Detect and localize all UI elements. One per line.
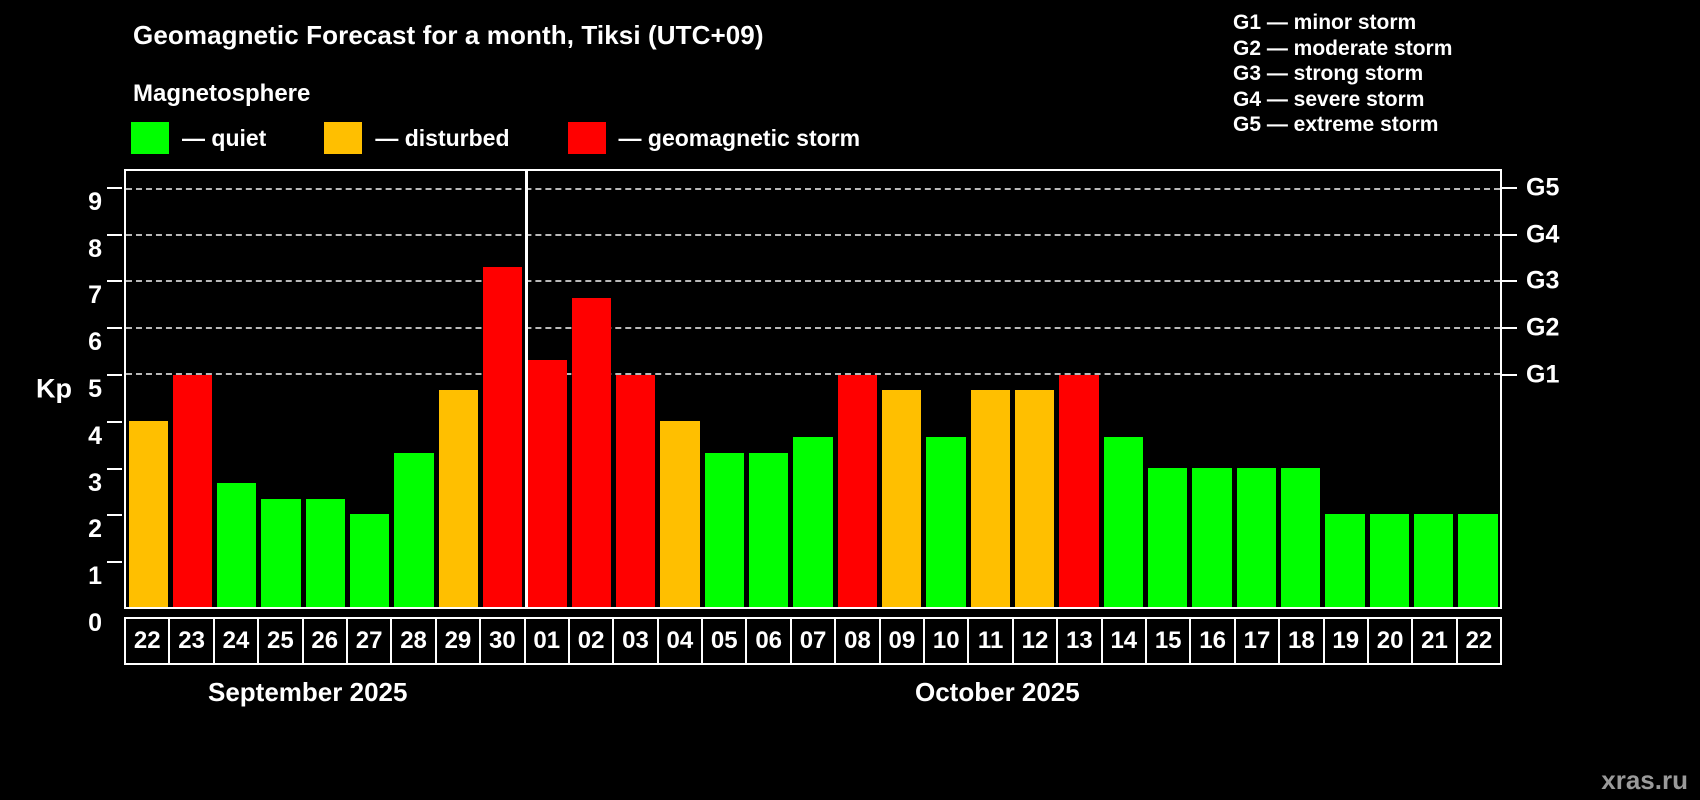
bar-cell[interactable] bbox=[614, 171, 658, 607]
day-label-10[interactable]: 10 bbox=[925, 619, 969, 663]
bar-cell[interactable] bbox=[1367, 171, 1411, 607]
bar-cell[interactable] bbox=[525, 171, 569, 607]
bar-28[interactable] bbox=[394, 453, 433, 607]
day-label-02[interactable]: 02 bbox=[570, 619, 614, 663]
legend-item-disturbed: — disturbed bbox=[324, 122, 509, 154]
bar-11[interactable] bbox=[971, 390, 1010, 607]
g-scale-axis: G1G2G3G4G5 bbox=[1502, 169, 1700, 609]
bar-cell[interactable] bbox=[1057, 171, 1101, 607]
bar-cell[interactable] bbox=[1101, 171, 1145, 607]
legend-item-quiet: — quiet bbox=[131, 122, 266, 154]
bar-15[interactable] bbox=[1148, 468, 1187, 607]
bar-cell[interactable] bbox=[1234, 171, 1278, 607]
g-scale-legend: G1 — minor stormG2 — moderate stormG3 — … bbox=[1233, 10, 1452, 138]
day-label-28[interactable]: 28 bbox=[392, 619, 436, 663]
legend-swatch-disturbed bbox=[324, 122, 362, 154]
day-label-12[interactable]: 12 bbox=[1014, 619, 1058, 663]
day-label-11[interactable]: 11 bbox=[969, 619, 1013, 663]
bar-29[interactable] bbox=[439, 390, 478, 607]
bar-21[interactable] bbox=[1414, 514, 1453, 607]
day-label-27[interactable]: 27 bbox=[348, 619, 392, 663]
bar-cell[interactable] bbox=[747, 171, 791, 607]
bar-19[interactable] bbox=[1325, 514, 1364, 607]
y-tick-mark-9 bbox=[107, 187, 122, 189]
bar-10[interactable] bbox=[926, 437, 965, 607]
bar-01[interactable] bbox=[527, 360, 566, 607]
bar-05[interactable] bbox=[705, 453, 744, 607]
bar-02[interactable] bbox=[572, 298, 611, 607]
g-scale-line-2: G2 — moderate storm bbox=[1233, 36, 1452, 62]
bar-06[interactable] bbox=[749, 453, 788, 607]
bar-04[interactable] bbox=[660, 421, 699, 607]
bar-cell[interactable] bbox=[1279, 171, 1323, 607]
day-label-15[interactable]: 15 bbox=[1147, 619, 1191, 663]
g-tick-mark-G4 bbox=[1502, 234, 1517, 236]
bar-25[interactable] bbox=[261, 499, 300, 607]
bar-cell[interactable] bbox=[1412, 171, 1456, 607]
legend-swatch-storm bbox=[568, 122, 606, 154]
bar-03[interactable] bbox=[616, 375, 655, 607]
g-tick-label-G2: G2 bbox=[1526, 314, 1559, 343]
bar-08[interactable] bbox=[838, 375, 877, 607]
bar-13[interactable] bbox=[1059, 375, 1098, 607]
bar-24[interactable] bbox=[217, 483, 256, 607]
month-divider bbox=[525, 169, 528, 609]
bar-cell[interactable] bbox=[924, 171, 968, 607]
bar-22[interactable] bbox=[129, 421, 168, 607]
g-tick-mark-G1 bbox=[1502, 374, 1517, 376]
bar-09[interactable] bbox=[882, 390, 921, 607]
bar-07[interactable] bbox=[793, 437, 832, 607]
bar-cell[interactable] bbox=[303, 171, 347, 607]
day-label-20[interactable]: 20 bbox=[1369, 619, 1413, 663]
bar-27[interactable] bbox=[350, 514, 389, 607]
bar-cell[interactable] bbox=[170, 171, 214, 607]
bar-cell[interactable] bbox=[569, 171, 613, 607]
bar-cell[interactable] bbox=[126, 171, 170, 607]
bar-30[interactable] bbox=[483, 267, 522, 607]
g-scale-line-1: G1 — minor storm bbox=[1233, 10, 1452, 36]
day-label-07[interactable]: 07 bbox=[792, 619, 836, 663]
day-label-25[interactable]: 25 bbox=[259, 619, 303, 663]
bar-cell[interactable] bbox=[215, 171, 259, 607]
day-label-06[interactable]: 06 bbox=[747, 619, 791, 663]
g-tick-mark-G2 bbox=[1502, 327, 1517, 329]
g-scale-line-5: G5 — extreme storm bbox=[1233, 112, 1452, 138]
page-title: Geomagnetic Forecast for a month, Tiksi … bbox=[133, 20, 764, 51]
day-label-22[interactable]: 22 bbox=[126, 619, 170, 663]
y-axis: Kp 0123456789 bbox=[0, 169, 124, 609]
bar-cell[interactable] bbox=[259, 171, 303, 607]
day-label-16[interactable]: 16 bbox=[1191, 619, 1235, 663]
watermark: xras.ru bbox=[1601, 765, 1688, 796]
bar-22[interactable] bbox=[1458, 514, 1497, 607]
bar-cell[interactable] bbox=[1190, 171, 1234, 607]
bar-cell[interactable] bbox=[481, 171, 525, 607]
day-label-18[interactable]: 18 bbox=[1280, 619, 1324, 663]
bar-14[interactable] bbox=[1104, 437, 1143, 607]
day-label-14[interactable]: 14 bbox=[1103, 619, 1147, 663]
bar-23[interactable] bbox=[173, 375, 212, 607]
magnetosphere-label: Magnetosphere bbox=[133, 80, 310, 108]
legend-label-disturbed: — disturbed bbox=[375, 125, 509, 152]
bar-cell[interactable] bbox=[1323, 171, 1367, 607]
bar-16[interactable] bbox=[1192, 468, 1231, 607]
day-label-04[interactable]: 04 bbox=[659, 619, 703, 663]
day-label-05[interactable]: 05 bbox=[703, 619, 747, 663]
bar-cell[interactable] bbox=[348, 171, 392, 607]
day-label-29[interactable]: 29 bbox=[437, 619, 481, 663]
g-tick-label-G1: G1 bbox=[1526, 360, 1559, 389]
y-tick-mark-3 bbox=[107, 468, 122, 470]
g-tick-label-G4: G4 bbox=[1526, 220, 1559, 249]
g-tick-mark-G5 bbox=[1502, 187, 1517, 189]
magnetosphere-legend: — quiet— disturbed— geomagnetic storm bbox=[131, 122, 860, 154]
y-tick-mark-1 bbox=[107, 561, 122, 563]
legend-swatch-quiet bbox=[131, 122, 169, 154]
y-tick-mark-7 bbox=[107, 280, 122, 282]
bar-cell[interactable] bbox=[791, 171, 835, 607]
bar-series bbox=[126, 171, 1500, 607]
legend-item-storm: — geomagnetic storm bbox=[568, 122, 861, 154]
y-tick-mark-2 bbox=[107, 514, 122, 516]
y-tick-mark-4 bbox=[107, 421, 122, 423]
bar-cell[interactable] bbox=[1146, 171, 1190, 607]
legend-label-quiet: — quiet bbox=[182, 125, 266, 152]
g-tick-label-G5: G5 bbox=[1526, 173, 1559, 202]
day-label-23[interactable]: 23 bbox=[170, 619, 214, 663]
day-label-22[interactable]: 22 bbox=[1458, 619, 1500, 663]
plot-area bbox=[124, 169, 1502, 609]
g-scale-line-3: G3 — strong storm bbox=[1233, 61, 1452, 87]
bar-cell[interactable] bbox=[835, 171, 879, 607]
bar-20[interactable] bbox=[1370, 514, 1409, 607]
bar-cell[interactable] bbox=[392, 171, 436, 607]
day-label-19[interactable]: 19 bbox=[1325, 619, 1369, 663]
month-caption-october: October 2025 bbox=[915, 677, 1080, 708]
chart-canvas: Geomagnetic Forecast for a month, Tiksi … bbox=[0, 0, 1700, 800]
day-label-09[interactable]: 09 bbox=[881, 619, 925, 663]
bar-12[interactable] bbox=[1015, 390, 1054, 607]
g-tick-label-G3: G3 bbox=[1526, 267, 1559, 296]
day-label-strip: 2223242526272829300102030405060708091011… bbox=[124, 617, 1502, 665]
y-tick-mark-6 bbox=[107, 327, 122, 329]
y-tick-mark-8 bbox=[107, 234, 122, 236]
day-label-01[interactable]: 01 bbox=[526, 619, 570, 663]
bar-17[interactable] bbox=[1237, 468, 1276, 607]
y-tick-mark-5 bbox=[107, 374, 122, 376]
legend-label-storm: — geomagnetic storm bbox=[619, 125, 861, 152]
bar-cell[interactable] bbox=[1013, 171, 1057, 607]
month-caption-september: September 2025 bbox=[208, 677, 407, 708]
bar-cell[interactable] bbox=[436, 171, 480, 607]
day-label-13[interactable]: 13 bbox=[1058, 619, 1102, 663]
bar-cell[interactable] bbox=[1456, 171, 1500, 607]
day-label-30[interactable]: 30 bbox=[481, 619, 525, 663]
bar-cell[interactable] bbox=[968, 171, 1012, 607]
day-label-08[interactable]: 08 bbox=[836, 619, 880, 663]
bar-cell[interactable] bbox=[658, 171, 702, 607]
day-label-21[interactable]: 21 bbox=[1413, 619, 1457, 663]
bar-26[interactable] bbox=[306, 499, 345, 607]
day-label-17[interactable]: 17 bbox=[1236, 619, 1280, 663]
bar-18[interactable] bbox=[1281, 468, 1320, 607]
bar-cell[interactable] bbox=[880, 171, 924, 607]
bar-cell[interactable] bbox=[702, 171, 746, 607]
day-label-24[interactable]: 24 bbox=[215, 619, 259, 663]
g-scale-line-4: G4 — severe storm bbox=[1233, 87, 1452, 113]
day-label-03[interactable]: 03 bbox=[614, 619, 658, 663]
day-label-26[interactable]: 26 bbox=[304, 619, 348, 663]
y-axis-title: Kp bbox=[36, 374, 72, 405]
g-tick-mark-G3 bbox=[1502, 280, 1517, 282]
